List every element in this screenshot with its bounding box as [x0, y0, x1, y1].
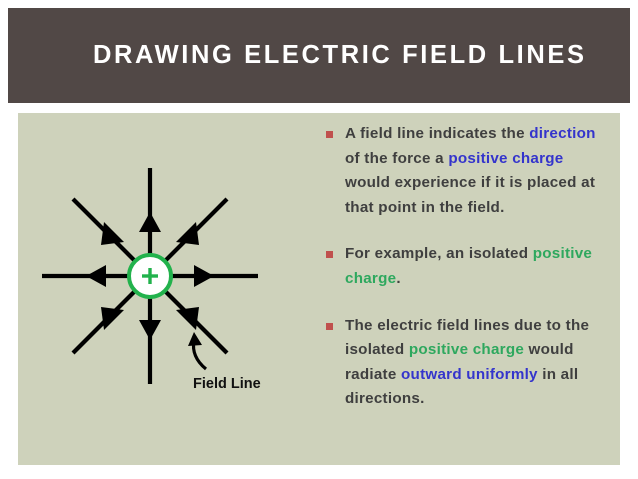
square-bullet-icon [326, 323, 333, 330]
positive-charge-marker [129, 255, 171, 297]
arrowhead-down [139, 320, 161, 340]
bullet-run-text: . [396, 270, 400, 287]
bullet-run-highlight-direction: direction [529, 125, 595, 142]
arrowhead-down-right [176, 307, 199, 330]
arrowhead-left [86, 265, 106, 287]
arrowhead-down-left [101, 307, 124, 330]
arrowhead-right [194, 265, 214, 287]
slide: Drawing Electric Field Lines [0, 0, 638, 479]
bullet-run-highlight-outward-uniformly: outward uniformly [401, 366, 538, 383]
arrowhead-up-left [101, 222, 124, 245]
square-bullet-icon [326, 131, 333, 138]
electric-field-lines-diagram: Field Line [18, 113, 318, 465]
bullet-radiate-outward: The electric field lines due to the isol… [323, 314, 613, 412]
bullet-field-line-direction: A field line indicates the direction of … [323, 122, 613, 220]
slide-title-bar: Drawing Electric Field Lines [8, 8, 630, 103]
bullet-isolated-charge-example: For example, an isolated positive charge… [323, 242, 613, 291]
slide-content-panel: Field Line A field line indicates the di… [18, 113, 620, 465]
arrowhead-up [139, 212, 161, 232]
bullet-run-text: would experience if it is placed at that… [345, 174, 595, 216]
bullet-run-highlight-positive-charge: positive charge [409, 341, 524, 358]
bullet-run-text: A field line indicates the [345, 125, 529, 142]
bullet-run-text: For example, an isolated [345, 245, 533, 262]
square-bullet-icon [326, 251, 333, 258]
arrowhead-up-right [176, 222, 199, 245]
bullet-list: A field line indicates the direction of … [323, 122, 613, 412]
bullet-run-highlight-positive-charge: positive charge [448, 150, 563, 167]
field-line-annotation-label: Field Line [193, 376, 261, 392]
bullet-run-text: of the force a [345, 150, 448, 167]
page-title: Drawing Electric Field Lines [93, 43, 587, 69]
field-line-callout-arrowhead [188, 332, 202, 346]
